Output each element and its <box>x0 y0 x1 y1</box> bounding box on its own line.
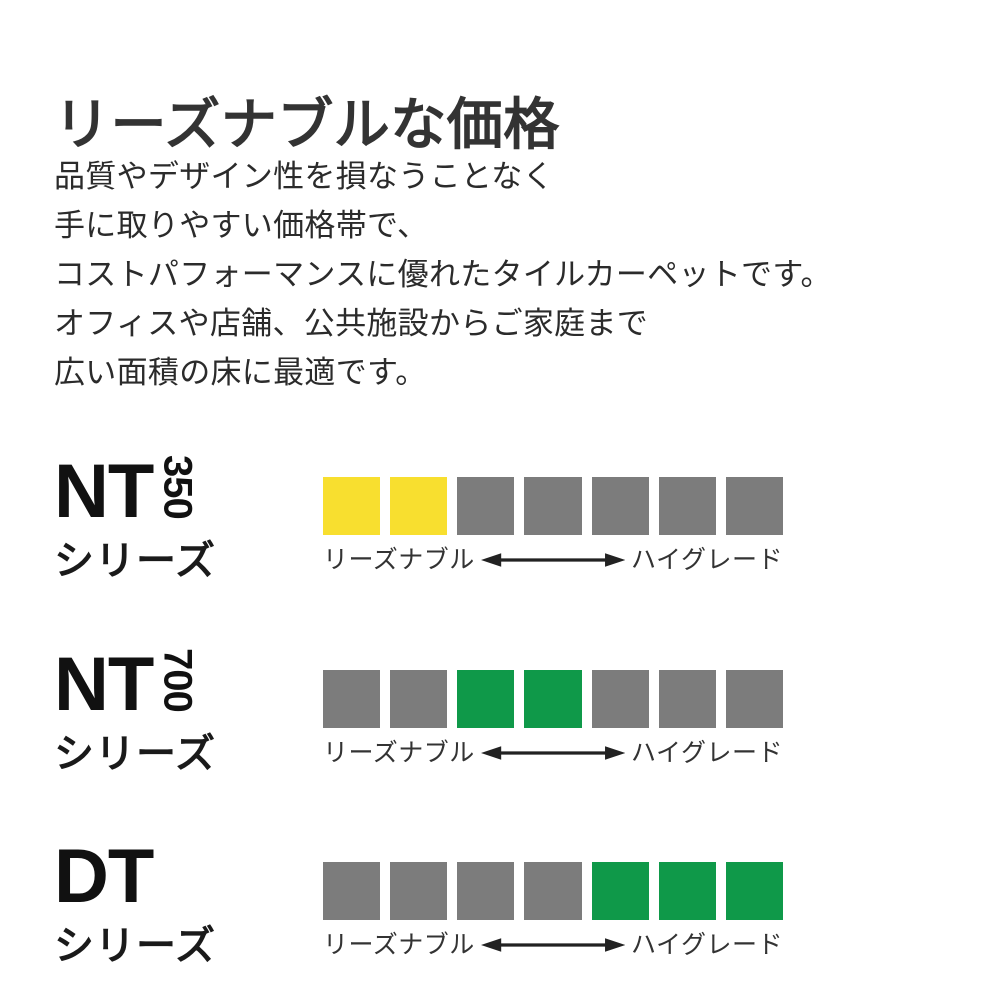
series-name: NT 700 <box>54 648 197 726</box>
series-row: NT 350 シリーズ リーズナブル <box>0 455 1000 595</box>
double-arrow-icon <box>475 742 631 764</box>
swatch <box>323 670 380 728</box>
swatch <box>592 670 649 728</box>
swatch-strip <box>323 670 783 728</box>
description-paragraph: 品質やデザイン性を損なうことなく 手に取りやすい価格帯で、 コストパフォーマンス… <box>54 152 832 397</box>
legend-high-label: ハイグレード <box>631 543 783 577</box>
swatch <box>659 670 716 728</box>
legend-low-label: リーズナブル <box>323 928 475 962</box>
swatch <box>323 477 380 535</box>
double-arrow-icon <box>475 549 631 571</box>
double-arrow-icon <box>475 934 631 956</box>
swatch <box>524 477 581 535</box>
series-name: NT 350 <box>54 455 197 533</box>
legend-low-label: リーズナブル <box>323 543 475 577</box>
legend-high-label: ハイグレード <box>631 736 783 770</box>
series-label-group: DT シリーズ <box>54 840 294 980</box>
swatch <box>524 862 581 920</box>
legend-low-label: リーズナブル <box>323 736 475 770</box>
description-line: 広い面積の床に最適です。 <box>54 348 832 397</box>
pricing-infographic: リーズナブルな価格 品質やデザイン性を損なうことなく 手に取りやすい価格帯で、 … <box>0 0 1000 1000</box>
swatch <box>726 477 783 535</box>
description-line: 手に取りやすい価格帯で、 <box>54 201 832 250</box>
swatch <box>659 477 716 535</box>
series-label-group: NT 700 シリーズ <box>54 648 294 788</box>
series-code: DT <box>54 840 153 914</box>
series-code: NT <box>54 455 153 529</box>
series-code: NT <box>54 648 153 722</box>
series-label-group: NT 350 シリーズ <box>54 455 294 595</box>
swatch <box>726 670 783 728</box>
swatch <box>592 862 649 920</box>
description-line: 品質やデザイン性を損なうことなく <box>54 152 832 201</box>
swatch <box>390 862 447 920</box>
series-suffix: シリーズ <box>54 732 216 776</box>
series-number: 350 <box>157 455 197 531</box>
swatch <box>457 862 514 920</box>
series-suffix: シリーズ <box>54 539 216 583</box>
series-suffix: シリーズ <box>54 924 216 968</box>
series-row: DT シリーズ リーズナブル <box>0 840 1000 980</box>
swatch <box>659 862 716 920</box>
series-number: 700 <box>157 648 197 724</box>
legend-high-label: ハイグレード <box>631 928 783 962</box>
grade-scale: リーズナブル ハイグレード <box>323 862 783 962</box>
scale-legend: リーズナブル ハイグレード <box>323 928 783 962</box>
swatch <box>390 477 447 535</box>
swatch <box>726 862 783 920</box>
description-line: コストパフォーマンスに優れたタイルカーペットです。 <box>54 250 832 299</box>
swatch <box>457 477 514 535</box>
series-name: DT <box>54 840 153 918</box>
swatch-strip <box>323 477 783 535</box>
description-line: オフィスや店舗、公共施設からご家庭まで <box>54 299 832 348</box>
scale-legend: リーズナブル ハイグレード <box>323 543 783 577</box>
grade-scale: リーズナブル ハイグレード <box>323 477 783 577</box>
series-row: NT 700 シリーズ リーズナブル <box>0 648 1000 788</box>
grade-scale: リーズナブル ハイグレード <box>323 670 783 770</box>
swatch-strip <box>323 862 783 920</box>
swatch <box>390 670 447 728</box>
swatch <box>323 862 380 920</box>
scale-legend: リーズナブル ハイグレード <box>323 736 783 770</box>
swatch <box>524 670 581 728</box>
swatch <box>592 477 649 535</box>
swatch <box>457 670 514 728</box>
page-title: リーズナブルな価格 <box>54 95 560 155</box>
